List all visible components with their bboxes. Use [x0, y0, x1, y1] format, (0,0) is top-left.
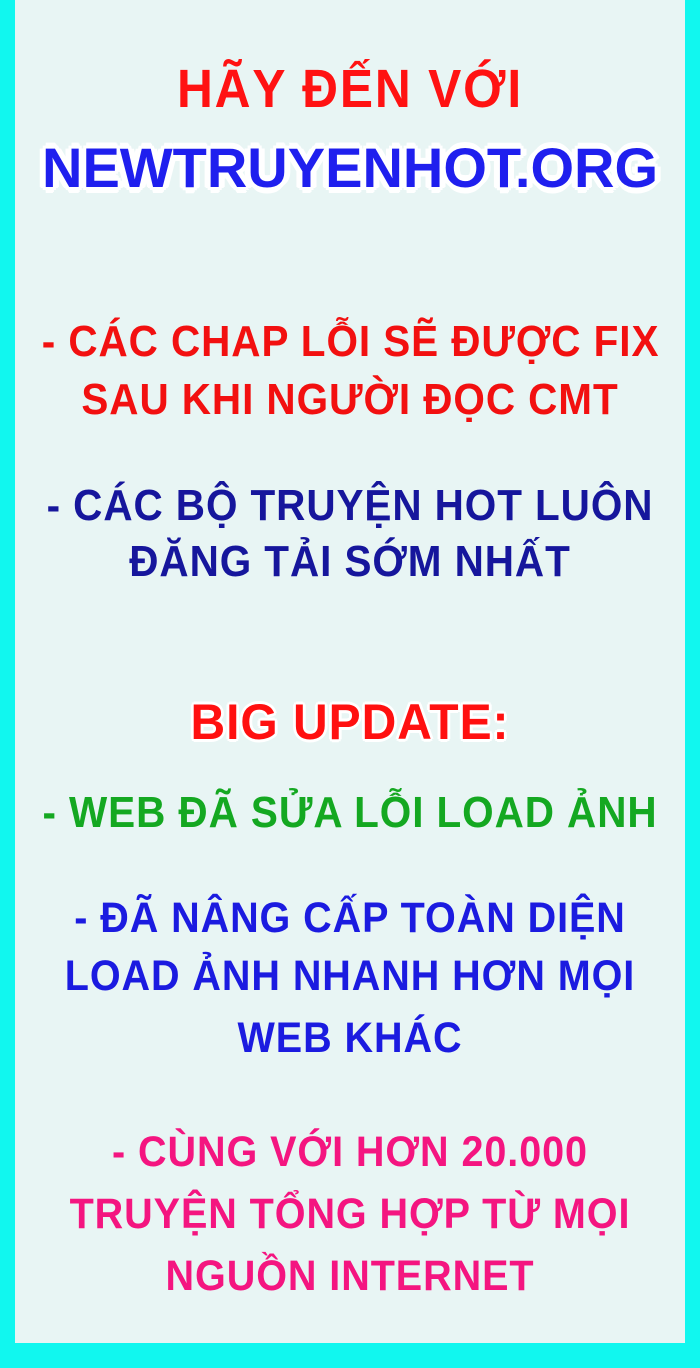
- notice-red-line-1: - CÁC CHAP LỖI SẼ ĐƯỢC FIX: [42, 320, 658, 364]
- update-heading: BIG UPDATE:: [28, 697, 671, 747]
- update-pink-line-2: TRUYỆN TỔNG HỢP TỪ MỌI: [42, 1193, 658, 1236]
- update-blue-line-1: - ĐÃ NÂNG CẤP TOÀN DIỆN: [42, 897, 658, 940]
- banner-canvas: HÃY ĐẾN VỚI NEWTRUYENHOT.ORG - CÁC CHAP …: [15, 0, 685, 1343]
- left-border-stripe: [0, 0, 15, 1343]
- update-blue-line-3: WEB KHÁC: [42, 1017, 658, 1060]
- notice-navy-line-1: - CÁC BỘ TRUYỆN HOT LUÔN: [42, 484, 658, 528]
- headline-domain[interactable]: NEWTRUYENHOT.ORG: [15, 140, 685, 196]
- notice-navy-line-2: ĐĂNG TẢI SỚM NHẤT: [42, 540, 658, 584]
- update-green-line-1: - WEB ĐÃ SỬA LỖI LOAD ẢNH: [42, 791, 658, 835]
- update-blue-line-2: LOAD ẢNH NHANH HƠN MỌI: [42, 955, 658, 998]
- update-pink-line-3: NGUỒN INTERNET: [42, 1255, 658, 1298]
- update-pink-line-1: - CÙNG VỚI HƠN 20.000: [42, 1131, 658, 1174]
- notice-red-line-2: SAU KHI NGƯỜI ĐỌC CMT: [42, 378, 658, 422]
- promo-banner: HÃY ĐẾN VỚI NEWTRUYENHOT.ORG - CÁC CHAP …: [0, 0, 700, 1368]
- headline-invite: HÃY ĐẾN VỚI: [42, 62, 658, 116]
- right-border-stripe: [685, 0, 700, 1343]
- bottom-border-band: [0, 1343, 700, 1368]
